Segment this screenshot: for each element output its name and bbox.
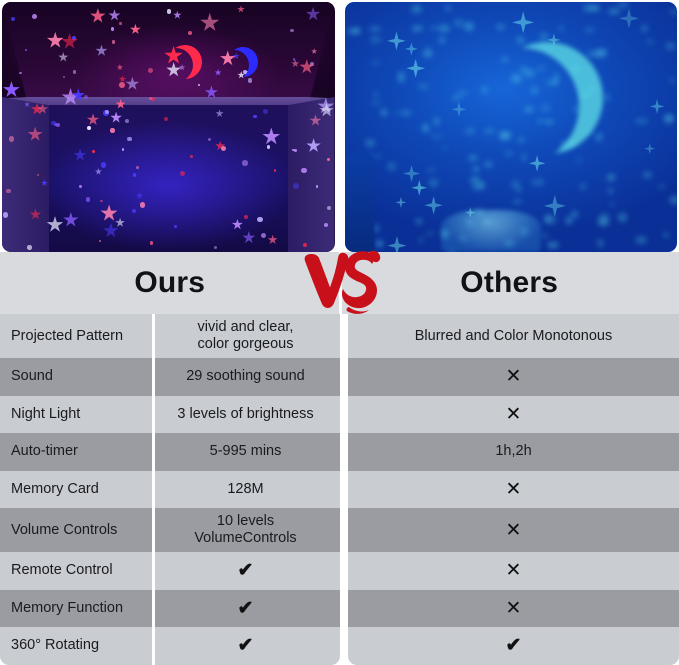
projected-dot [132, 209, 136, 213]
blue-star [403, 165, 421, 183]
check-icon: ✔ [506, 636, 522, 655]
wall-left [2, 97, 55, 252]
blue-dot [517, 37, 524, 42]
table-row: Memory Function✔✕ [0, 590, 679, 628]
feature-label: Projected Pattern [0, 314, 152, 358]
blue-dot [591, 5, 600, 10]
projected-dot [27, 245, 32, 250]
others-product-photo [345, 2, 678, 252]
blue-dot [398, 75, 404, 84]
others-value: ✕ [348, 358, 679, 396]
ours-value: 5-995 mins [155, 433, 340, 471]
blue-dot [544, 215, 552, 223]
blue-dot [381, 109, 387, 117]
others-title: Others [460, 266, 558, 300]
blue-star [619, 8, 640, 29]
blue-dot [372, 61, 379, 64]
blue-dot [443, 145, 448, 151]
projected-dot [140, 202, 145, 207]
ours-value: 10 levelsVolumeControls [155, 508, 340, 552]
projected-dot [86, 197, 90, 201]
ours-value-text: 3 levels of brightness [177, 406, 313, 423]
blue-dot [643, 172, 652, 178]
ours-value-line-2: color gorgeous [198, 336, 294, 353]
table-row: Remote Control✔✕ [0, 552, 679, 590]
blue-star [644, 143, 655, 154]
blue-dot [617, 3, 629, 8]
feature-label: Remote Control [0, 552, 152, 590]
projected-dot [6, 189, 11, 194]
projected-dot [92, 150, 95, 153]
blue-dot [669, 79, 675, 82]
blue-dot [539, 33, 549, 40]
blue-dot [426, 168, 436, 172]
projected-dot [149, 97, 152, 100]
blue-star [650, 99, 665, 114]
ours-value-text: 29 soothing sound [186, 368, 305, 385]
ours-value-text: 5-995 mins [210, 443, 282, 460]
projected-dot [127, 137, 131, 141]
blue-dot [635, 118, 648, 125]
blue-dot [418, 84, 429, 89]
others-value: 1h,2h [348, 433, 679, 471]
blue-star [406, 59, 425, 78]
projected-dot [267, 145, 270, 148]
blue-dot [370, 36, 381, 43]
blue-dot [425, 232, 435, 235]
center-gap [340, 552, 348, 590]
projected-dot [327, 206, 331, 210]
others-value-text: Blurred and Color Monotonous [415, 328, 612, 345]
table-row: Auto-timer5-995 mins1h,2h [0, 433, 679, 471]
blue-dot [375, 154, 381, 159]
projected-dot [301, 168, 307, 174]
projected-dot [327, 158, 330, 161]
center-gap [340, 314, 348, 358]
blue-dot [481, 86, 487, 94]
projected-dot [11, 17, 15, 21]
projected-dot [63, 76, 65, 78]
header-left: Ours [0, 252, 340, 314]
blue-dot [663, 232, 669, 238]
table-row: Night Light3 levels of brightness✕ [0, 396, 679, 434]
blue-dot [430, 26, 438, 30]
sofa-silhouette [345, 152, 375, 252]
blue-dot [504, 152, 514, 156]
blue-dot [596, 133, 601, 141]
projected-dot [110, 128, 114, 132]
blue-dot [610, 202, 615, 206]
others-value: ✕ [348, 590, 679, 628]
projected-dot [79, 185, 82, 188]
feature-label: Volume Controls [0, 508, 152, 552]
table-row: Sound29 soothing sound✕ [0, 358, 679, 396]
blue-dot [419, 237, 423, 243]
center-gap [340, 358, 348, 396]
projected-dot [150, 241, 154, 245]
blue-dot [605, 94, 609, 100]
blue-dot [369, 27, 381, 31]
cross-icon: ✕ [506, 367, 522, 386]
projected-dot [290, 29, 294, 33]
cross-icon: ✕ [506, 521, 522, 540]
blue-dot [558, 26, 564, 31]
blue-dot [454, 19, 465, 27]
blue-dot [547, 242, 559, 248]
blue-dot [571, 211, 578, 218]
header-right: Others [340, 252, 679, 314]
blue-dot [584, 28, 595, 33]
blue-dot [484, 161, 493, 167]
header-divider [339, 252, 342, 314]
blue-star [411, 180, 427, 196]
others-value: ✕ [348, 552, 679, 590]
table-row: Projected Patternvivid and clear,color g… [0, 314, 679, 358]
projected-dot [148, 68, 153, 73]
table-row: 360° Rotating✔✔ [0, 627, 679, 665]
projected-dot [19, 72, 21, 74]
blue-dot [387, 162, 396, 171]
check-icon: ✔ [238, 599, 254, 618]
blue-dot [468, 155, 479, 162]
comparison-table: Projected Patternvivid and clear,color g… [0, 314, 679, 654]
blue-dot [522, 153, 526, 161]
feature-label: Memory Card [0, 471, 152, 509]
projected-dot [119, 22, 122, 25]
ours-value: ✔ [155, 552, 340, 590]
blue-dot [457, 90, 468, 96]
blue-star [405, 42, 419, 56]
blue-dot [374, 92, 378, 97]
ours-value-text: vivid and clear,color gorgeous [198, 319, 294, 352]
blue-star [512, 11, 534, 33]
blue-dot [669, 9, 677, 15]
ours-value: 3 levels of brightness [155, 396, 340, 434]
blue-dot [445, 6, 451, 9]
blue-dot [464, 22, 475, 31]
ours-value-text: 128M [227, 481, 263, 498]
blue-dot [513, 199, 522, 204]
blue-dot [365, 139, 374, 147]
projected-dot [32, 14, 37, 19]
projected-dot [122, 148, 124, 150]
blue-dot [412, 26, 423, 31]
blue-dot [659, 184, 665, 189]
blue-dot [473, 166, 480, 172]
others-value: ✕ [348, 396, 679, 434]
cross-icon: ✕ [506, 561, 522, 580]
blue-dot [411, 5, 422, 13]
center-gap [340, 508, 348, 552]
projected-dot [51, 121, 55, 125]
blue-dot [429, 179, 437, 187]
blue-dot [618, 213, 628, 221]
feature-label: Night Light [0, 396, 152, 434]
blue-star [424, 196, 443, 215]
ours-value: 29 soothing sound [155, 358, 340, 396]
projected-dot [257, 217, 263, 223]
ours-value: vivid and clear,color gorgeous [155, 314, 340, 358]
projected-dot [190, 155, 193, 158]
others-value: ✔ [348, 627, 679, 665]
blue-dot [422, 124, 429, 131]
table-row: Memory Card128M✕ [0, 471, 679, 509]
projected-dot [293, 58, 296, 61]
check-icon: ✔ [238, 636, 254, 655]
feature-label: Auto-timer [0, 433, 152, 471]
blue-dot [400, 110, 413, 117]
table-row: Volume Controls10 levelsVolumeControls✕ [0, 508, 679, 552]
projected-dot [25, 49, 27, 51]
blue-dot [664, 114, 674, 123]
blue-dot [608, 9, 620, 14]
photo-strip [0, 0, 679, 252]
others-value: ✕ [348, 471, 679, 509]
blue-dot [669, 196, 677, 204]
projected-dot [9, 136, 14, 141]
cross-icon: ✕ [506, 480, 522, 499]
projected-dot [316, 185, 318, 187]
blue-dot [371, 101, 382, 104]
others-value: ✕ [348, 508, 679, 552]
ours-value: 128M [155, 471, 340, 509]
projected-dot [119, 82, 125, 88]
center-gap [340, 471, 348, 509]
cross-icon: ✕ [506, 599, 522, 618]
ours-title: Ours [134, 266, 205, 300]
blue-dot [581, 183, 585, 191]
blue-dot [517, 188, 522, 192]
others-value: Blurred and Color Monotonous [348, 314, 679, 358]
check-icon: ✔ [238, 561, 254, 580]
blue-dot [433, 117, 439, 125]
blue-dot [608, 188, 613, 194]
center-gap [340, 396, 348, 434]
blue-dot [595, 49, 607, 57]
blue-dot [646, 39, 653, 43]
blue-star [387, 31, 406, 50]
ours-value-line-1: 10 levels [194, 513, 296, 530]
blue-star [529, 155, 546, 172]
blue-dot [416, 219, 422, 223]
ours-value-line-2: VolumeControls [194, 530, 296, 547]
blue-dot [539, 179, 544, 185]
blue-dot [598, 217, 609, 226]
red-moon-icon [168, 45, 202, 79]
ours-value-text: 10 levelsVolumeControls [194, 513, 296, 546]
feature-label: Sound [0, 358, 152, 396]
projected-dot [253, 115, 256, 118]
projected-dot [188, 31, 192, 35]
projected-dot [293, 183, 299, 189]
projected-dot [112, 40, 115, 43]
comparison-infographic: Ours Others Projected Patternvivid and c… [0, 0, 679, 654]
projector-device [441, 210, 541, 253]
blue-dot [439, 37, 445, 43]
blue-star [544, 195, 567, 218]
blue-dot [635, 236, 648, 244]
blue-dot [576, 158, 582, 162]
feature-label: 360° Rotating [0, 627, 152, 665]
blue-dot [542, 233, 548, 238]
center-gap [340, 433, 348, 471]
ours-value-line-1: vivid and clear, [198, 319, 294, 336]
blue-dot [470, 177, 480, 182]
blue-star [395, 197, 407, 209]
blue-dot [465, 128, 475, 134]
ours-value: ✔ [155, 590, 340, 628]
blue-dot [394, 111, 399, 114]
blue-dot [566, 217, 572, 223]
ours-product-photo [2, 2, 335, 252]
projected-dot [242, 160, 247, 165]
projected-dot [101, 162, 106, 167]
projected-star [3, 81, 21, 99]
blue-dot [438, 25, 450, 33]
ours-value: ✔ [155, 627, 340, 665]
blue-dot [484, 128, 494, 134]
projected-dot [133, 173, 136, 176]
blue-dot [666, 43, 676, 49]
blue-dot [376, 240, 384, 246]
blue-star [451, 102, 466, 117]
wall-back [49, 105, 288, 253]
feature-label: Memory Function [0, 590, 152, 628]
wall-right [281, 97, 334, 252]
center-gap [340, 590, 348, 628]
blue-star [387, 236, 407, 252]
blue-dot [598, 239, 603, 247]
blue-dot [354, 28, 361, 33]
blue-dot [480, 182, 484, 187]
blue-moon-icon [491, 42, 603, 154]
blue-dot [452, 96, 461, 100]
center-gap [340, 627, 348, 665]
blue-dot [642, 25, 647, 32]
blue-moon-icon [228, 47, 258, 77]
projected-dot [292, 149, 295, 152]
others-value-text: 1h,2h [495, 443, 531, 460]
cross-icon: ✕ [506, 405, 522, 424]
blue-dot [607, 174, 615, 181]
projected-dot [303, 243, 307, 247]
blue-dot [496, 24, 505, 31]
blue-dot [430, 134, 443, 139]
